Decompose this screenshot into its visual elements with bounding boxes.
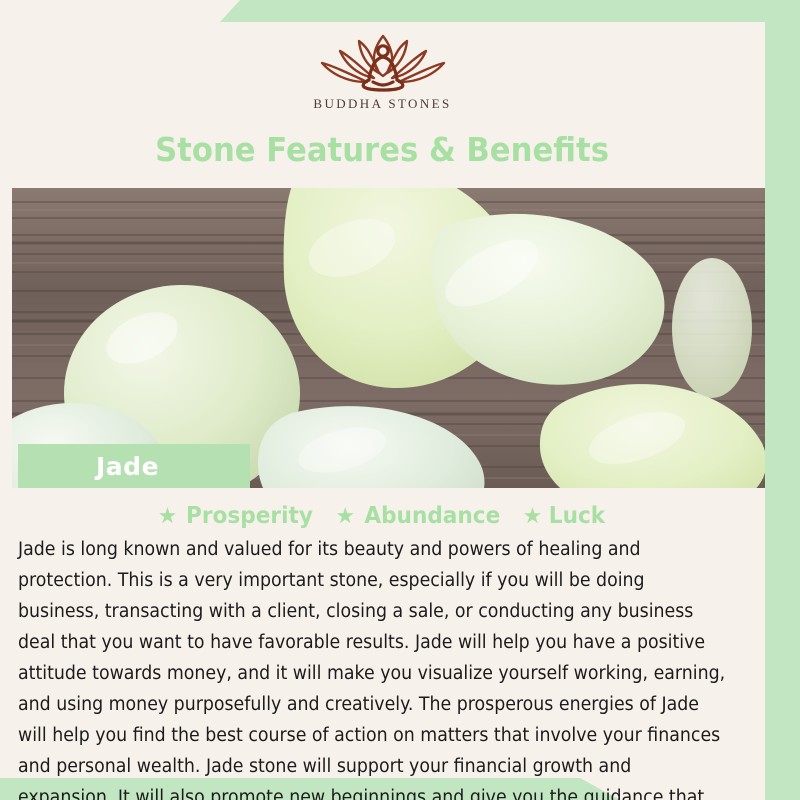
benefits-list: ★ Prosperity ★ Abundance ★ Luck	[0, 500, 765, 532]
benefit-label: Abundance	[364, 503, 500, 529]
infographic-page: BUDDHA STONES Stone Features & Benefits	[0, 0, 800, 800]
decor-right-green-band	[765, 0, 800, 800]
lotus-meditation-icon	[310, 30, 456, 92]
benefit-item-abundance: ★ Abundance	[335, 503, 504, 529]
benefit-item-prosperity: ★ Prosperity	[158, 503, 318, 529]
page-title: Stone Features & Benefits	[0, 122, 765, 177]
stone-name-band: Jade	[18, 444, 250, 488]
brand-name: BUDDHA STONES	[313, 96, 451, 112]
description-text: Jade is long known and valued for its be…	[18, 534, 730, 800]
benefit-item-luck: ★ Luck	[523, 503, 608, 529]
benefit-label: Luck	[549, 503, 605, 529]
star-icon: ★	[158, 505, 178, 527]
page-title-text: Stone Features & Benefits	[156, 130, 610, 169]
benefit-label: Prosperity	[186, 503, 313, 529]
content-panel: BUDDHA STONES Stone Features & Benefits	[0, 22, 765, 778]
brand-header: BUDDHA STONES	[0, 22, 765, 122]
star-icon: ★	[523, 505, 543, 527]
stone-name-label: Jade	[18, 452, 159, 481]
hero-photo	[12, 188, 765, 488]
star-icon: ★	[335, 505, 355, 527]
